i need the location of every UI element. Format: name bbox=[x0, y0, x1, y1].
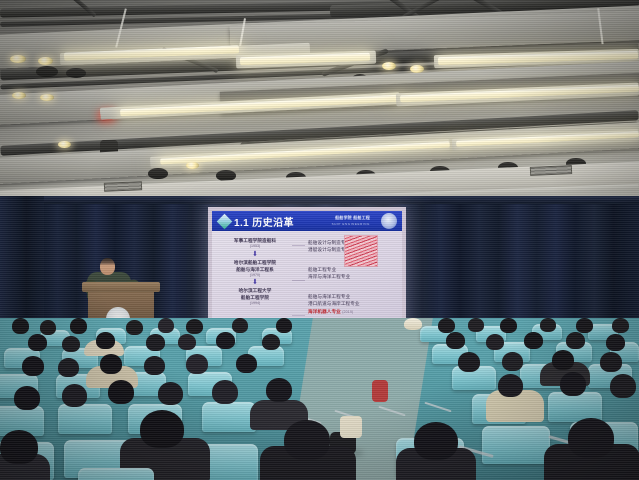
powerpoint-slide: 1.1 历史沿革 船舶学院 船舶工程 SHIP ENGINEERING 军事工程… bbox=[212, 211, 402, 335]
audience-head bbox=[552, 350, 574, 370]
audience-head bbox=[266, 378, 292, 402]
audience-head bbox=[498, 374, 523, 397]
audience-head bbox=[486, 334, 504, 350]
audience-head bbox=[438, 318, 455, 333]
slide-header-org: 船舶学院 船舶工程 bbox=[335, 215, 370, 221]
major-4-year: (2019) bbox=[342, 310, 353, 314]
audience-head bbox=[566, 332, 585, 349]
audience-head bbox=[158, 382, 183, 405]
connector-line bbox=[292, 245, 305, 246]
audience-head bbox=[126, 320, 143, 335]
red-jacket-attendee bbox=[372, 380, 388, 402]
history-flow-column: 军事工程学院造船科 (1953) ⬇ 哈尔滨船舶工程学院 船舶与海洋工程系 (1… bbox=[222, 237, 288, 307]
down-arrow-icon: ⬇ bbox=[222, 279, 288, 286]
draped-jacket bbox=[340, 416, 362, 438]
seat-armrest bbox=[424, 402, 451, 413]
lecture-hall-photograph: 1.1 历史沿革 船舶学院 船舶工程 SHIP ENGINEERING 军事工程… bbox=[0, 0, 639, 480]
history-year-2: (1970) bbox=[222, 273, 288, 278]
curtain-valance bbox=[0, 196, 639, 204]
recessed-downlight bbox=[186, 162, 199, 169]
lectern-top-surface bbox=[82, 282, 160, 292]
audience-head bbox=[612, 318, 629, 333]
audience-head bbox=[236, 354, 257, 373]
stage-spotlight bbox=[36, 66, 58, 77]
audience-head bbox=[28, 334, 47, 351]
major-4-label: 海洋机器人专业 bbox=[308, 309, 341, 314]
audience-head bbox=[600, 352, 622, 372]
recessed-downlight bbox=[40, 94, 54, 101]
audience-head bbox=[468, 318, 484, 332]
history-year-1: (1953) bbox=[222, 244, 288, 249]
audience-head bbox=[576, 318, 593, 333]
recessed-downlight bbox=[38, 57, 53, 65]
audience-head bbox=[144, 356, 165, 375]
history-node-1: 军事工程学院造船科 bbox=[222, 237, 288, 244]
audience-head bbox=[524, 332, 543, 349]
stage-spotlight bbox=[148, 168, 168, 179]
recessed-downlight bbox=[10, 55, 26, 63]
audience-head bbox=[446, 332, 465, 349]
recessed-downlight bbox=[58, 141, 71, 148]
audience-head bbox=[0, 430, 38, 464]
audience-head bbox=[414, 422, 458, 460]
audience-head bbox=[216, 332, 235, 349]
history-node-2: 哈尔滨船舶工程学院 船舶与海洋工程系 bbox=[222, 259, 288, 273]
audience-head bbox=[140, 410, 184, 448]
audience-head bbox=[62, 384, 87, 407]
audience-head bbox=[12, 318, 29, 334]
audience-head bbox=[14, 386, 40, 410]
audience-head bbox=[58, 358, 79, 377]
recessed-downlight bbox=[382, 62, 396, 70]
audience-head bbox=[500, 318, 517, 333]
audience-head bbox=[212, 380, 238, 404]
history-node-3: 哈尔滨工程大学 船舶工程学院 bbox=[222, 287, 288, 301]
audience-head bbox=[540, 318, 556, 332]
audience-head bbox=[100, 354, 122, 374]
exposed-industrial-ceiling bbox=[0, 0, 639, 200]
history-year-3: (1994) bbox=[222, 301, 288, 306]
slide-header-bar: 1.1 历史沿革 船舶学院 船舶工程 SHIP ENGINEERING bbox=[212, 211, 402, 231]
audience-head bbox=[146, 334, 165, 351]
auditorium-seat bbox=[482, 426, 550, 464]
audience-head bbox=[284, 420, 330, 460]
recessed-downlight bbox=[12, 92, 26, 99]
air-vent-grille bbox=[104, 181, 142, 192]
audience-head bbox=[186, 354, 208, 374]
audience-head bbox=[262, 334, 280, 350]
audience-head bbox=[606, 334, 625, 351]
major-2b: 海岸与海洋工程专业 bbox=[308, 273, 370, 280]
audience-head bbox=[158, 318, 174, 333]
audience-head bbox=[276, 318, 292, 333]
stage-spotlight bbox=[66, 68, 86, 78]
connector-line bbox=[292, 315, 305, 316]
audience-head bbox=[502, 352, 523, 371]
auditorium-seat bbox=[202, 402, 256, 432]
audience-head bbox=[458, 352, 480, 372]
audience-head bbox=[178, 334, 196, 350]
audience-head bbox=[568, 418, 614, 458]
slide-header-org-sub: SHIP ENGINEERING bbox=[332, 222, 370, 226]
auditorium-seat bbox=[78, 468, 154, 480]
audience-head bbox=[70, 318, 87, 334]
audience-head bbox=[96, 332, 115, 349]
university-crest-logo-icon bbox=[381, 213, 397, 229]
major-3b: 港口航道与海岸工程专业 bbox=[308, 300, 370, 307]
audience-head bbox=[108, 380, 134, 404]
major-3a: 船舶与海洋工程专业 bbox=[308, 293, 370, 300]
down-arrow-icon: ⬇ bbox=[222, 251, 288, 258]
audience-head bbox=[22, 356, 44, 376]
audience-head bbox=[232, 318, 248, 333]
diamond-bullet-icon bbox=[217, 214, 233, 230]
historic-red-archive-photo bbox=[344, 235, 378, 267]
audience-head bbox=[62, 336, 80, 352]
seated-audience bbox=[0, 318, 639, 480]
slide-body: 军事工程学院造船科 (1953) ⬇ 哈尔滨船舶工程学院 船舶与海洋工程系 (1… bbox=[212, 231, 402, 323]
air-vent-grille bbox=[530, 165, 572, 176]
audience-head bbox=[560, 372, 586, 396]
audience-head bbox=[610, 374, 636, 398]
audience-head bbox=[186, 319, 203, 334]
presenter-head bbox=[100, 258, 115, 275]
major-4-highlight: 海洋机器人专业 (2019) bbox=[308, 308, 370, 316]
auditorium-seat bbox=[58, 404, 112, 434]
person-in-beige-cap bbox=[404, 318, 422, 330]
slide-title: 1.1 历史沿革 bbox=[234, 214, 294, 229]
connector-line bbox=[292, 280, 305, 281]
audience-head bbox=[40, 320, 56, 335]
